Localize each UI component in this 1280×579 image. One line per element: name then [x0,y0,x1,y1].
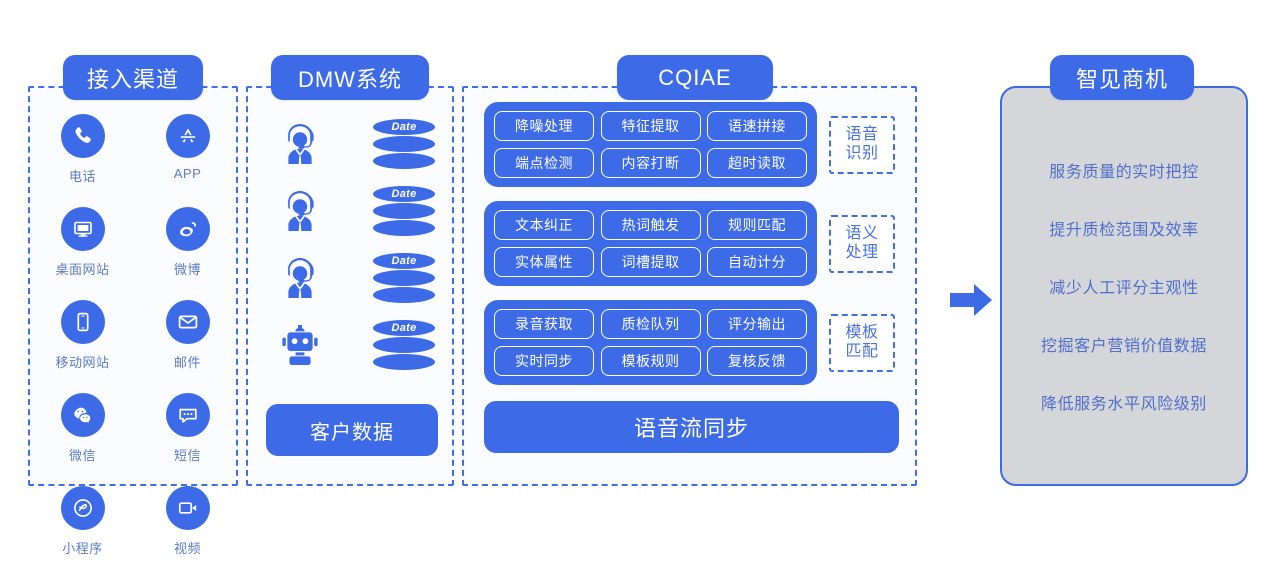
db-label: Date [373,119,435,135]
weibo-icon [166,207,210,251]
cqiae-chip[interactable]: 实时同步 [494,346,594,376]
cqiae-chip[interactable]: 超时读取 [707,148,807,178]
dmw-row: Date [248,311,456,378]
customer-data-bar: 客户数据 [266,404,438,456]
cqiae-chip[interactable]: 自动计分 [707,247,807,277]
cqiae-chip[interactable]: 复核反馈 [707,346,807,376]
db-disc [373,354,435,370]
database-icon: Date [352,320,456,370]
desktop-icon [61,207,105,251]
tag-line: 语音 [845,126,878,144]
channels-column: 电话 APP [28,86,238,486]
cqiae-chip-row: 降噪处理 特征提取 语速拼接 [494,111,807,141]
channels-grid: 电话 APP [30,114,240,579]
db-label: Date [373,320,435,336]
db-disc [373,337,435,353]
dmw-column: Date [246,86,454,486]
dmw-row: Date [248,110,456,177]
dmw-row: Date [248,177,456,244]
database-icon: Date [352,119,456,169]
benefit-item: 提升质检范围及效率 [1002,199,1246,257]
channels-header-pill: 接入渠道 [63,55,203,100]
robot-icon [248,319,352,371]
benefit-item: 挖掘客户营销价值数据 [1002,315,1246,373]
channel-item-desktop[interactable]: 桌面网站 [30,207,135,300]
channel-label: 微博 [174,259,201,278]
channel-label: 电话 [69,166,96,185]
wechat-icon [61,393,105,437]
cqiae-chip[interactable]: 词槽提取 [601,247,701,277]
channel-label: 短信 [174,445,201,464]
headset-agent-icon [248,185,352,237]
cqiae-group-tag-semantic-processing: 语义 处理 [829,215,895,273]
channel-item-mail[interactable]: 邮件 [135,300,240,393]
cqiae-chip-row: 端点检测 内容打断 超时读取 [494,148,807,178]
db-disc [373,153,435,169]
cqiae-chip-row: 文本纠正 热词触发 规则匹配 [494,210,807,240]
cqiae-chip[interactable]: 录音获取 [494,309,594,339]
headset-agent-icon [248,118,352,170]
cqiae-chip[interactable]: 降噪处理 [494,111,594,141]
miniprogram-icon [61,486,105,530]
channel-item-phone[interactable]: 电话 [30,114,135,207]
cqiae-chip[interactable]: 评分输出 [707,309,807,339]
tag-line: 匹配 [845,343,878,361]
db-disc [373,136,435,152]
cqiae-chip[interactable]: 质检队列 [601,309,701,339]
appstore-icon [166,114,210,158]
channel-label: 桌面网站 [55,259,109,278]
tag-line: 处理 [845,244,878,262]
database-icon: Date [352,186,456,236]
channel-label: 微信 [69,445,96,464]
cqiae-group-box: 文本纠正 热词触发 规则匹配 实体属性 词槽提取 自动计分 [484,201,817,286]
cqiae-group-tag-speech-recognition: 语音 识别 [829,116,895,174]
cqiae-chip[interactable]: 特征提取 [601,111,701,141]
db-label: Date [373,186,435,202]
cqiae-header-pill: CQIAE [617,55,773,100]
cqiae-group-box: 降噪处理 特征提取 语速拼接 端点检测 内容打断 超时读取 [484,102,817,187]
arrow-right-icon [950,282,992,318]
cqiae-chip-row: 实时同步 模板规则 复核反馈 [494,346,807,376]
phone-icon [61,114,105,158]
db-disc [373,203,435,219]
cqiae-chip-row: 实体属性 词槽提取 自动计分 [494,247,807,277]
channel-label: 视频 [174,538,201,557]
channel-label: 移动网站 [55,352,109,371]
cqiae-chip[interactable]: 端点检测 [494,148,594,178]
db-disc [373,220,435,236]
voice-stream-sync-bar: 语音流同步 [484,401,899,453]
cqiae-group-speech-recognition: 降噪处理 特征提取 语速拼接 端点检测 内容打断 超时读取 语音 识别 [484,102,899,187]
cqiae-group-tag-template-matching: 模板 匹配 [829,314,895,372]
cqiae-chip[interactable]: 热词触发 [601,210,701,240]
cqiae-chip[interactable]: 内容打断 [601,148,701,178]
dmw-row: Date [248,244,456,311]
db-disc [373,287,435,303]
cqiae-chip[interactable]: 模板规则 [601,346,701,376]
database-icon: Date [352,253,456,303]
db-label: Date [373,253,435,269]
channel-label: 邮件 [174,352,201,371]
benefits-panel: 服务质量的实时把控 提升质检范围及效率 减少人工评分主观性 挖掘客户营销价值数据… [1000,86,1248,486]
cqiae-chip[interactable]: 语速拼接 [707,111,807,141]
dmw-rows: Date [248,110,456,378]
channel-item-mobile-site[interactable]: 移动网站 [30,300,135,393]
video-icon [166,486,210,530]
channel-label: APP [174,166,202,181]
benefit-item: 减少人工评分主观性 [1002,257,1246,315]
mobile-icon [61,300,105,344]
cqiae-chip[interactable]: 文本纠正 [494,210,594,240]
cqiae-chip[interactable]: 规则匹配 [707,210,807,240]
cqiae-column: 降噪处理 特征提取 语速拼接 端点检测 内容打断 超时读取 语音 识别 文本纠正 [462,86,917,486]
channel-item-app[interactable]: APP [135,114,240,207]
headset-agent-icon [248,252,352,304]
benefits-header-pill: 智见商机 [1050,55,1194,100]
benefit-item: 服务质量的实时把控 [1002,141,1246,199]
sms-icon [166,393,210,437]
channel-item-weibo[interactable]: 微博 [135,207,240,300]
tag-line: 识别 [845,145,878,163]
db-disc [373,270,435,286]
cqiae-group-template-matching: 录音获取 质检队列 评分输出 实时同步 模板规则 复核反馈 模板 匹配 [484,300,899,385]
cqiae-chip[interactable]: 实体属性 [494,247,594,277]
benefit-item: 降低服务水平风险级别 [1002,373,1246,431]
channel-item-wechat[interactable]: 微信 [30,393,135,486]
tag-line: 语义 [845,225,878,243]
cqiae-chip-row: 录音获取 质检队列 评分输出 [494,309,807,339]
architecture-diagram: 电话 APP [0,0,1280,533]
cqiae-group-semantic-processing: 文本纠正 热词触发 规则匹配 实体属性 词槽提取 自动计分 语义 处理 [484,201,899,286]
tag-line: 模板 [845,324,878,342]
mail-icon [166,300,210,344]
cqiae-group-box: 录音获取 质检队列 评分输出 实时同步 模板规则 复核反馈 [484,300,817,385]
channel-item-sms[interactable]: 短信 [135,393,240,486]
dmw-header-pill: DMW系统 [271,55,429,100]
channel-label: 小程序 [62,538,103,557]
